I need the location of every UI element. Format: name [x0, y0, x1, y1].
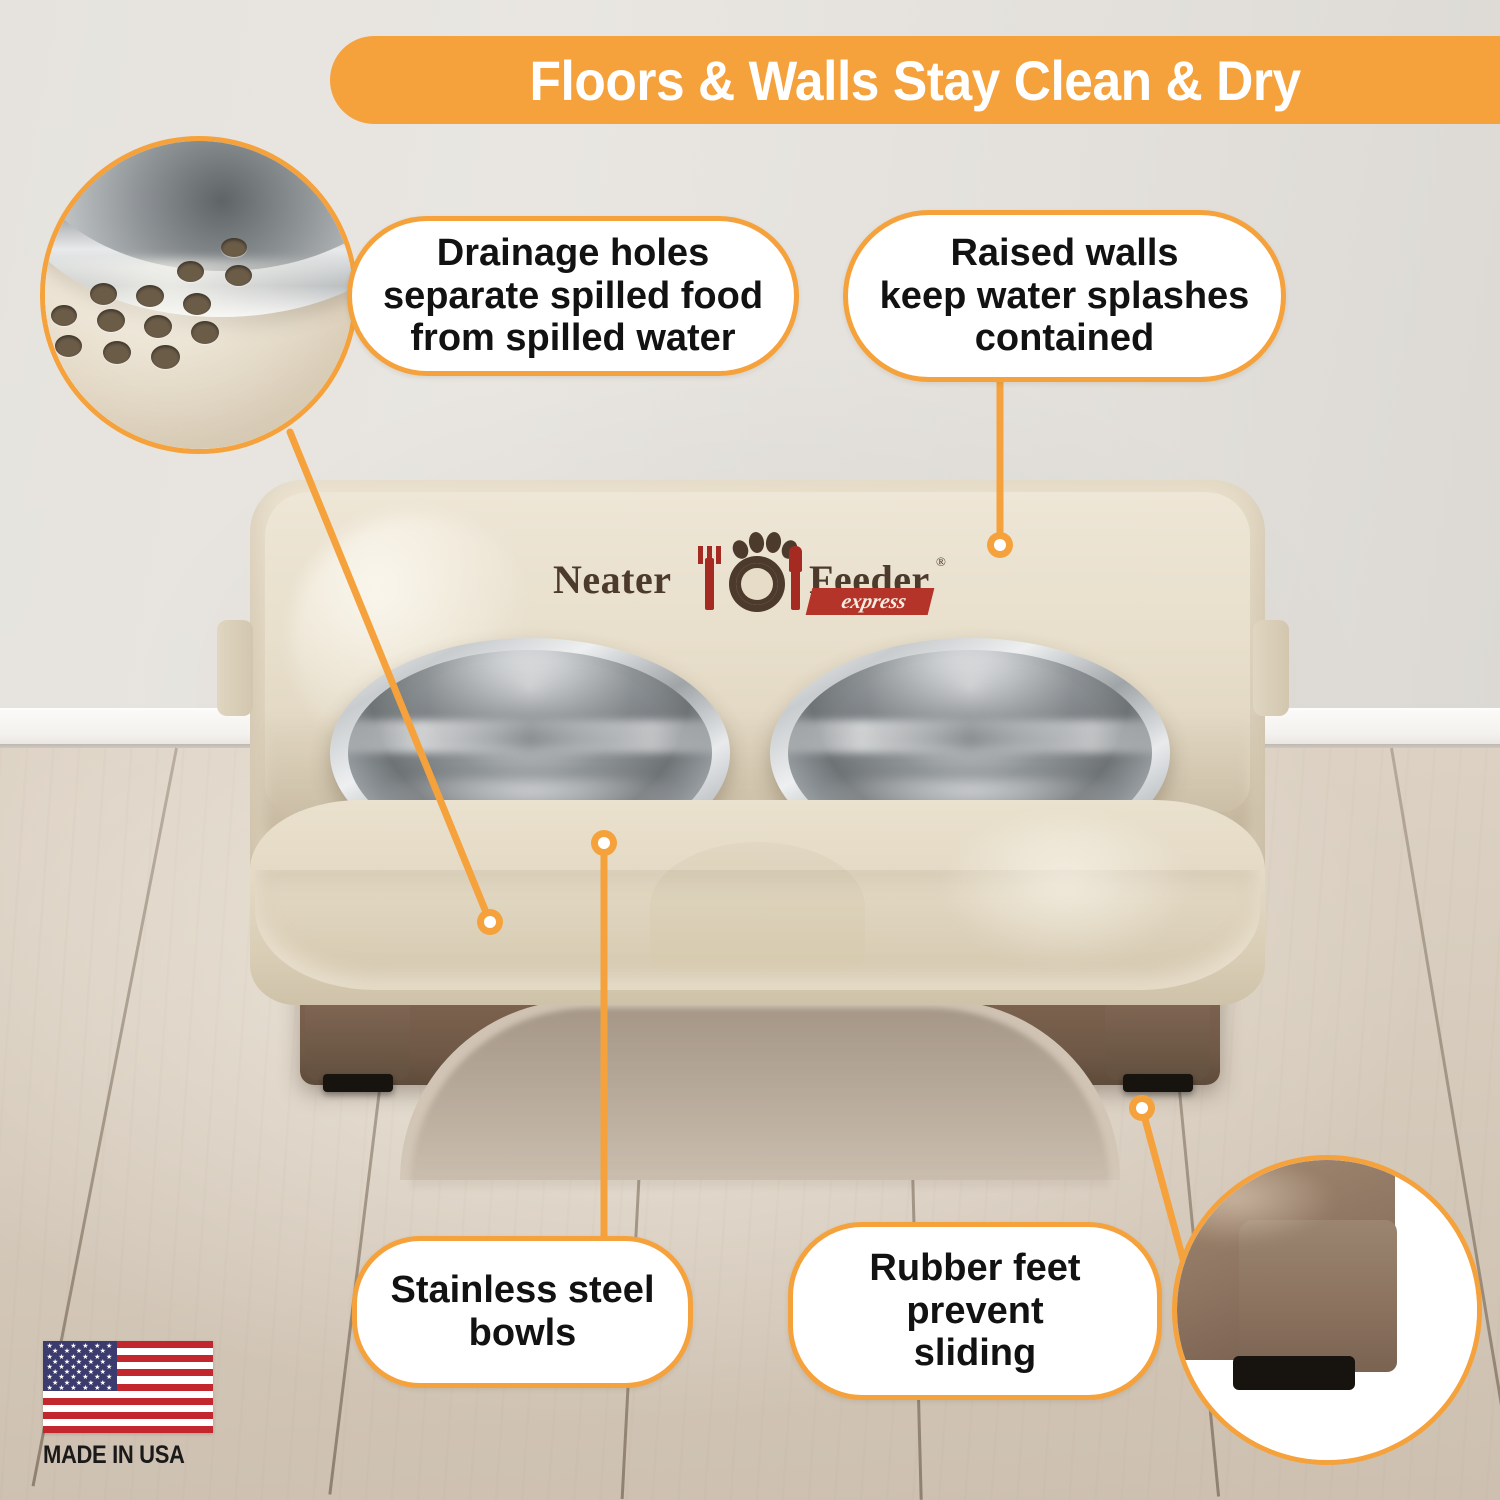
flag-stripe [43, 1398, 213, 1405]
flag-star: ★ [88, 1348, 94, 1355]
bowl-highlight [348, 720, 712, 753]
drainage-hole [177, 261, 204, 282]
flag-star: ★ [100, 1380, 106, 1387]
flag-star: ★ [100, 1348, 106, 1355]
flag-star: ★ [100, 1369, 106, 1376]
callout-rubber-feet: Rubber feet prevent sliding [788, 1222, 1162, 1400]
flag-star: ★ [88, 1359, 94, 1366]
flag-star: ★ [70, 1385, 76, 1392]
callout-text-block: Stainless steel bowls [390, 1269, 654, 1354]
infographic-canvas: Neater Feeder ® express [0, 0, 1500, 1500]
flag-star: ★ [94, 1385, 100, 1392]
registered-trademark-mark: ® [936, 554, 946, 570]
callout-line-2: separate spilled food [383, 275, 763, 318]
inset-rubber-pad [1233, 1356, 1355, 1390]
callout-stainless-steel-bowls: Stainless steel bowls [352, 1236, 693, 1388]
flag-star: ★ [47, 1385, 53, 1392]
callout-line-1: Raised walls [880, 232, 1250, 275]
flag-stripe [43, 1412, 213, 1419]
paw-toe-icon [748, 531, 766, 554]
flag-stripe [43, 1426, 213, 1433]
banner-title: Floors & Walls Stay Clean & Dry [529, 48, 1300, 113]
drainage-hole [51, 305, 77, 326]
drainage-holes-closeup-inset [40, 136, 358, 454]
drainage-hole [136, 285, 164, 307]
flag-star: ★ [88, 1380, 94, 1387]
callout-line-3: contained [880, 317, 1250, 360]
paw-plate-icon [729, 556, 785, 612]
flag-star: ★ [106, 1374, 112, 1381]
callout-text-block: Drainage holes separate spilled food fro… [383, 232, 763, 360]
flag-star: ★ [82, 1385, 88, 1392]
drainage-hole [221, 238, 247, 257]
tray-side-flange-left [217, 620, 253, 716]
paw-toe-icon [765, 531, 783, 554]
fork-icon [705, 558, 714, 610]
made-in-usa-label: MADE IN USA [43, 1441, 193, 1470]
bowl-highlight [788, 720, 1152, 753]
drainage-hole [90, 283, 117, 305]
callout-line-1: Drainage holes [383, 232, 763, 275]
callout-line-2: prevent [869, 1290, 1080, 1333]
knife-icon [791, 556, 800, 610]
logo-word-neater: Neater [553, 556, 671, 603]
callout-line-2: bowls [390, 1312, 654, 1355]
express-label: express [812, 589, 935, 614]
drainage-hole [183, 293, 211, 315]
callout-line-1: Rubber feet [869, 1247, 1080, 1290]
tray-gloss-highlight [935, 820, 1195, 970]
drainage-hole [144, 315, 172, 338]
callout-text-block: Rubber feet prevent sliding [869, 1247, 1080, 1375]
flag-star: ★ [106, 1354, 112, 1361]
rubber-foot-right [1123, 1074, 1193, 1092]
drainage-hole [151, 345, 180, 369]
drainage-hole [225, 265, 252, 286]
flag-star: ★ [58, 1385, 64, 1392]
drainage-hole [191, 321, 219, 344]
drainage-hole [55, 335, 82, 357]
callout-line-1: Stainless steel [390, 1269, 654, 1312]
callout-line-3: sliding [869, 1332, 1080, 1375]
callout-text-block: Raised walls keep water splashes contain… [880, 232, 1250, 360]
inset-leg-highlight [1172, 1166, 1337, 1246]
callout-line-3: from spilled water [383, 317, 763, 360]
neater-feeder-logo: Neater Feeder ® express [553, 532, 953, 622]
base-arch-shadow [410, 1008, 1110, 1188]
header-banner: Floors & Walls Stay Clean & Dry [330, 36, 1500, 124]
drainage-hole [103, 341, 131, 364]
callout-drainage-holes: Drainage holes separate spilled food fro… [347, 216, 799, 376]
us-flag-icon: ★★★★★★★★★★★★★★★★★★★★★★★★★★★★★★★★★★★★★★★★… [43, 1341, 213, 1433]
rubber-foot-left [323, 1074, 393, 1092]
rubber-foot-closeup-inset [1172, 1155, 1482, 1465]
flag-star: ★ [106, 1364, 112, 1371]
made-in-usa-badge: ★★★★★★★★★★★★★★★★★★★★★★★★★★★★★★★★★★★★★★★★… [43, 1341, 223, 1477]
flag-star: ★ [100, 1359, 106, 1366]
flag-star: ★ [106, 1385, 112, 1392]
callout-line-2: keep water splashes [880, 275, 1250, 318]
flag-star: ★ [106, 1343, 112, 1350]
callout-raised-walls: Raised walls keep water splashes contain… [843, 210, 1286, 382]
inset-surface-sheen [40, 259, 358, 454]
drainage-hole [97, 309, 125, 332]
tray-side-flange-right [1253, 620, 1289, 716]
neater-feeder-product: Neater Feeder ® express [195, 470, 1315, 1130]
flag-star: ★ [88, 1369, 94, 1376]
flag-canton: ★★★★★★★★★★★★★★★★★★★★★★★★★★★★★★★★★★★★★★★★… [43, 1341, 117, 1391]
